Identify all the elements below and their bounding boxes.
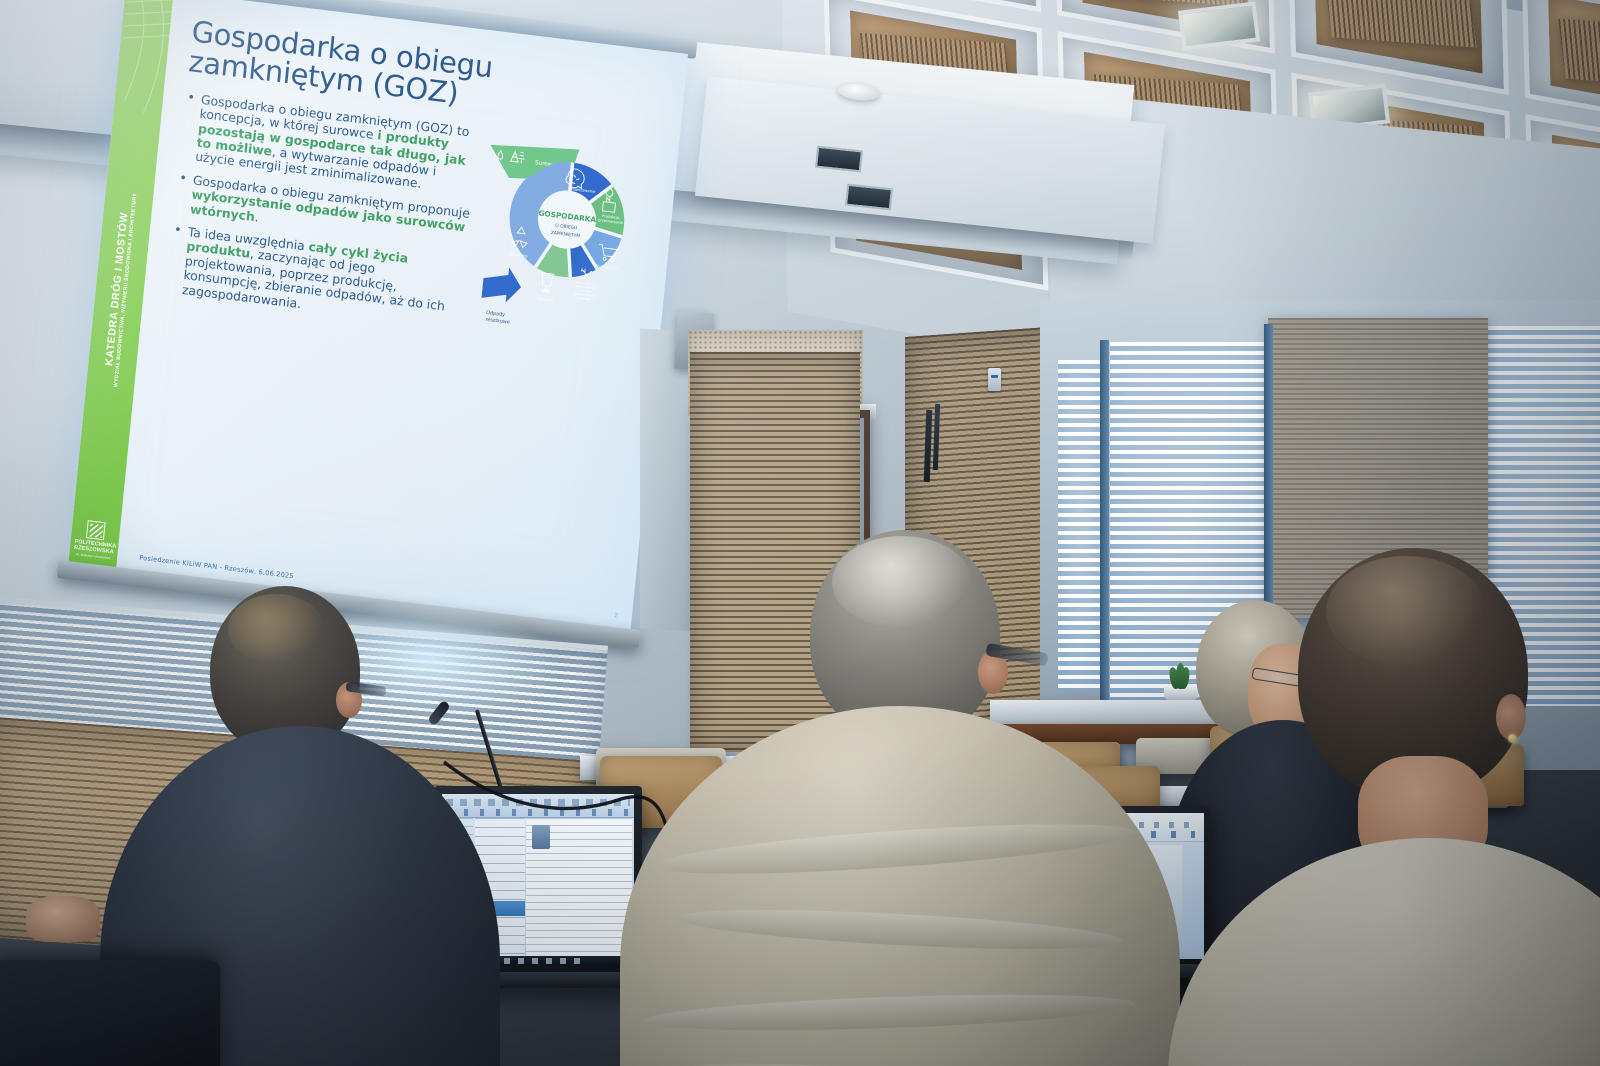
plant-leaf <box>1176 663 1185 689</box>
diagram-output-arrow: Odpady resztkowe <box>479 264 523 326</box>
university-logo-mark-icon <box>86 520 106 540</box>
fabric-fold <box>675 902 1124 957</box>
window-left-pane <box>1058 360 1104 690</box>
hair-highlight <box>832 536 972 628</box>
segment-label-konsumpcja-5: naprawa <box>578 296 591 302</box>
email-ribbon-tabs[interactable] <box>446 799 630 806</box>
slide-page-number: 2 <box>614 612 618 619</box>
projection-screen: KATEDRA DRÓG I MOSTÓW WYDZIAŁ BUDOWNICTW… <box>68 0 688 631</box>
presentation-slide: KATEDRA DRÓG I MOSTÓW WYDZIAŁ BUDOWNICTW… <box>68 0 688 631</box>
segment-label-dystrybucja: Dystrybucja <box>595 264 617 271</box>
hand <box>26 896 100 942</box>
circular-economy-diagram: Surowce <box>464 121 663 386</box>
chair-foreground-dark <box>0 960 220 1066</box>
email-toolbar-icons[interactable] <box>448 809 628 816</box>
air-vent-icon <box>815 146 863 173</box>
sender-avatar <box>532 825 549 849</box>
hair-highlight <box>1326 556 1486 666</box>
university-logo: POLITECHNIKA RZESZOWSKA im. Ignacego Łuk… <box>73 519 116 561</box>
slide-bullet-list: Gospodarka o obiegu zamkniętym (GOZ) to … <box>162 91 482 364</box>
segment-label-zbieranie: Zbieranie <box>537 297 554 303</box>
diagram-output-label-2: resztkowe <box>485 317 510 326</box>
fabric-fold <box>653 814 1136 884</box>
earring-icon <box>1508 734 1517 743</box>
fabric-fold <box>687 1056 1102 1066</box>
fabric-fold <box>642 989 1136 1037</box>
sidebar-department-text: KATEDRA DRÓG I MOSTÓW WYDZIAŁ BUDOWNICTW… <box>101 191 138 387</box>
bullet-2-part-3: . <box>254 209 259 224</box>
conference-room-scene: KATEDRA DRÓG I MOSTÓW WYDZIAŁ BUDOWNICTW… <box>0 0 1600 1066</box>
air-vent-icon <box>845 184 893 211</box>
slide-content: Gospodarka o obiegu zamkniętym (GOZ) Gos… <box>116 0 688 631</box>
circular-economy-svg: Surowce <box>464 121 663 386</box>
wall-speaker-icon <box>988 368 1001 391</box>
waste-bin-icon <box>539 273 555 293</box>
window-mullion <box>1100 340 1109 706</box>
hair-highlight <box>228 594 324 664</box>
